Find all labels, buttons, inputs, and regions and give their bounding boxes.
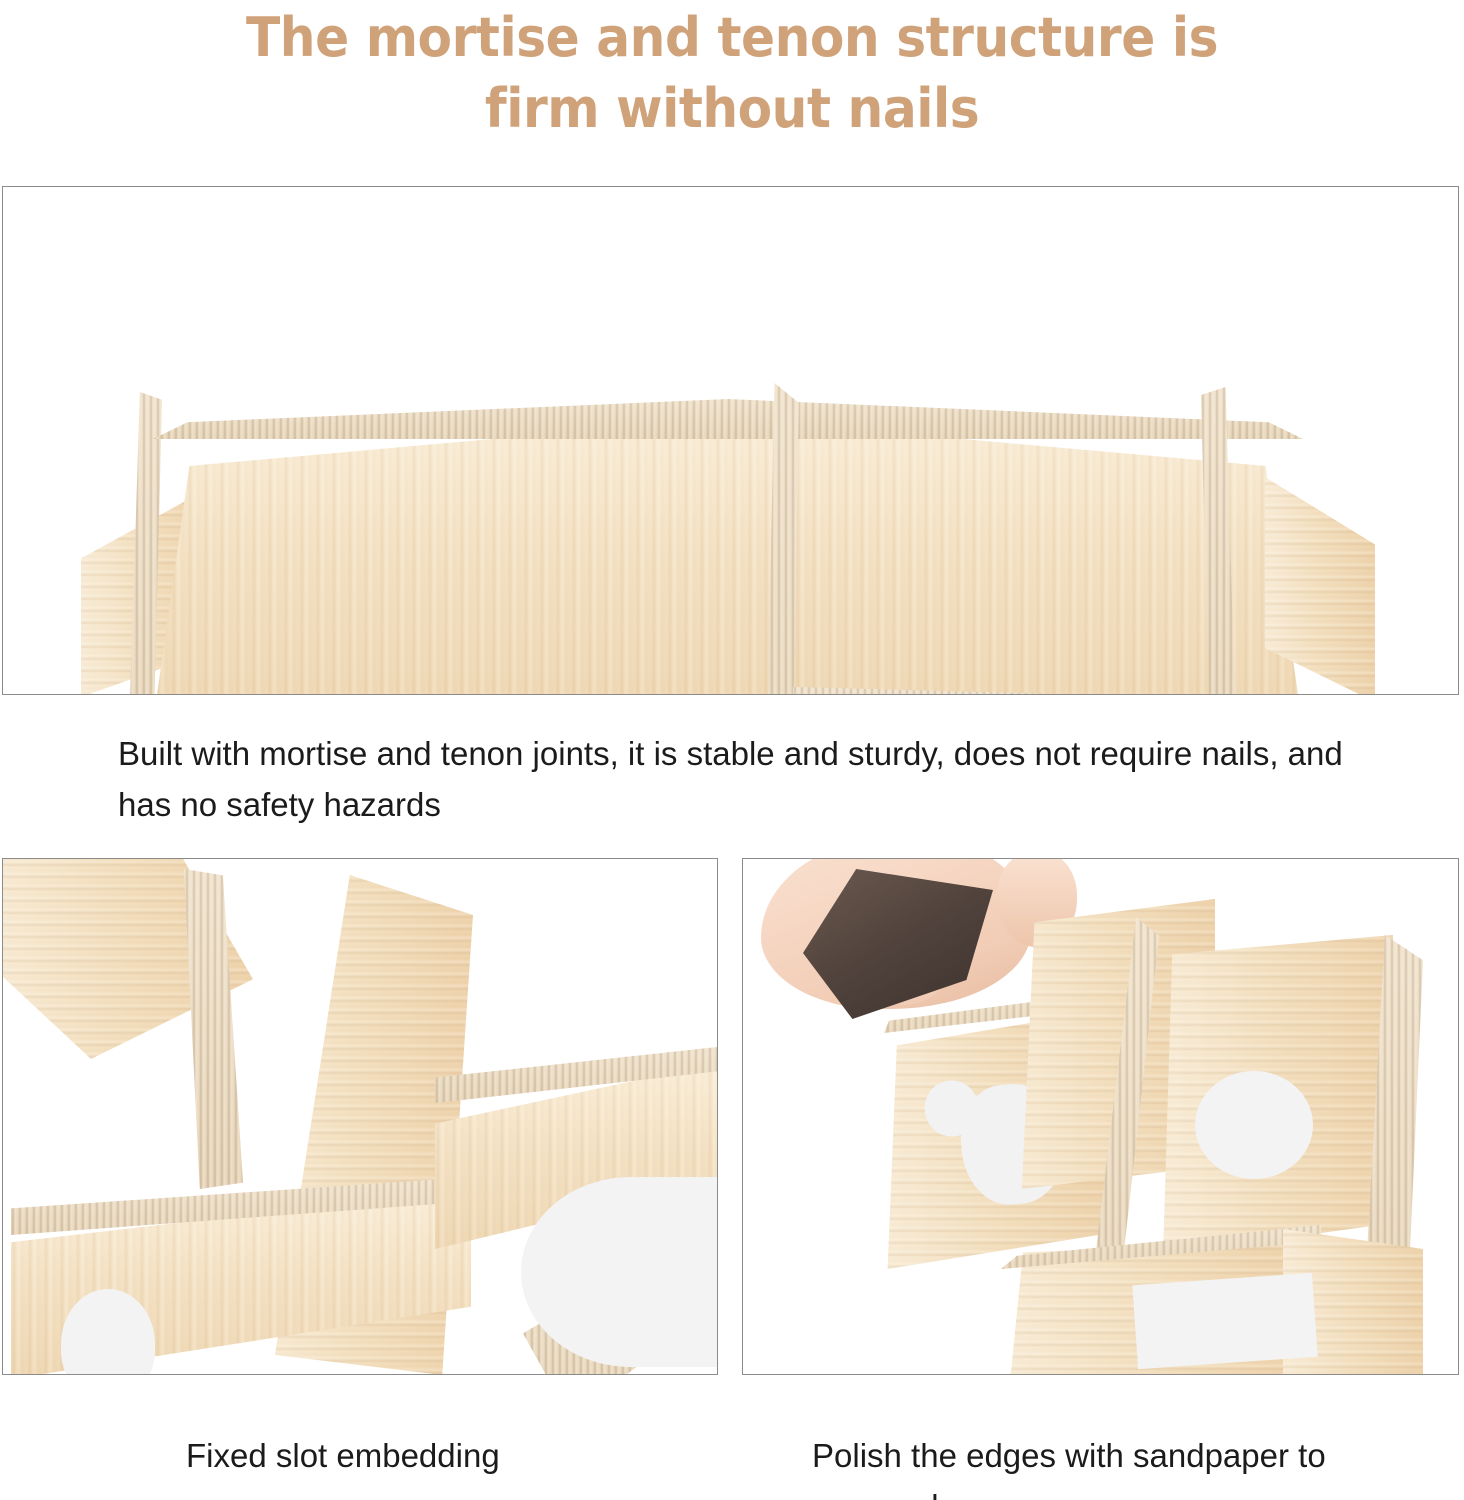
title-line-2: firm without nails: [51, 73, 1413, 144]
wood-panel-back-wall: [155, 409, 1300, 695]
detail-photo-sanding: [742, 858, 1459, 1375]
title-line-1: The mortise and tenon structure is: [51, 2, 1413, 73]
white-base-card: [1132, 1273, 1317, 1369]
detail-caption-fixed-slot: Fixed slot embedding: [186, 1430, 706, 1481]
infographic-page: The mortise and tenon structure is firm …: [0, 0, 1464, 1500]
page-title: The mortise and tenon structure is firm …: [0, 2, 1464, 144]
circle-cutout-panel: [1195, 1071, 1313, 1179]
detail-caption-sanding: Polish the edges with sandpaper to remov…: [812, 1430, 1412, 1500]
wood-rail-top: [153, 399, 1303, 439]
sanding-scene: [743, 859, 1458, 1374]
fixed-slot-scene: [3, 859, 717, 1374]
hero-caption: Built with mortise and tenon joints, it …: [118, 728, 1398, 830]
hero-product-photo: [2, 186, 1459, 695]
hero-scene: [3, 187, 1458, 694]
detail-photo-fixed-slot: [2, 858, 718, 1375]
